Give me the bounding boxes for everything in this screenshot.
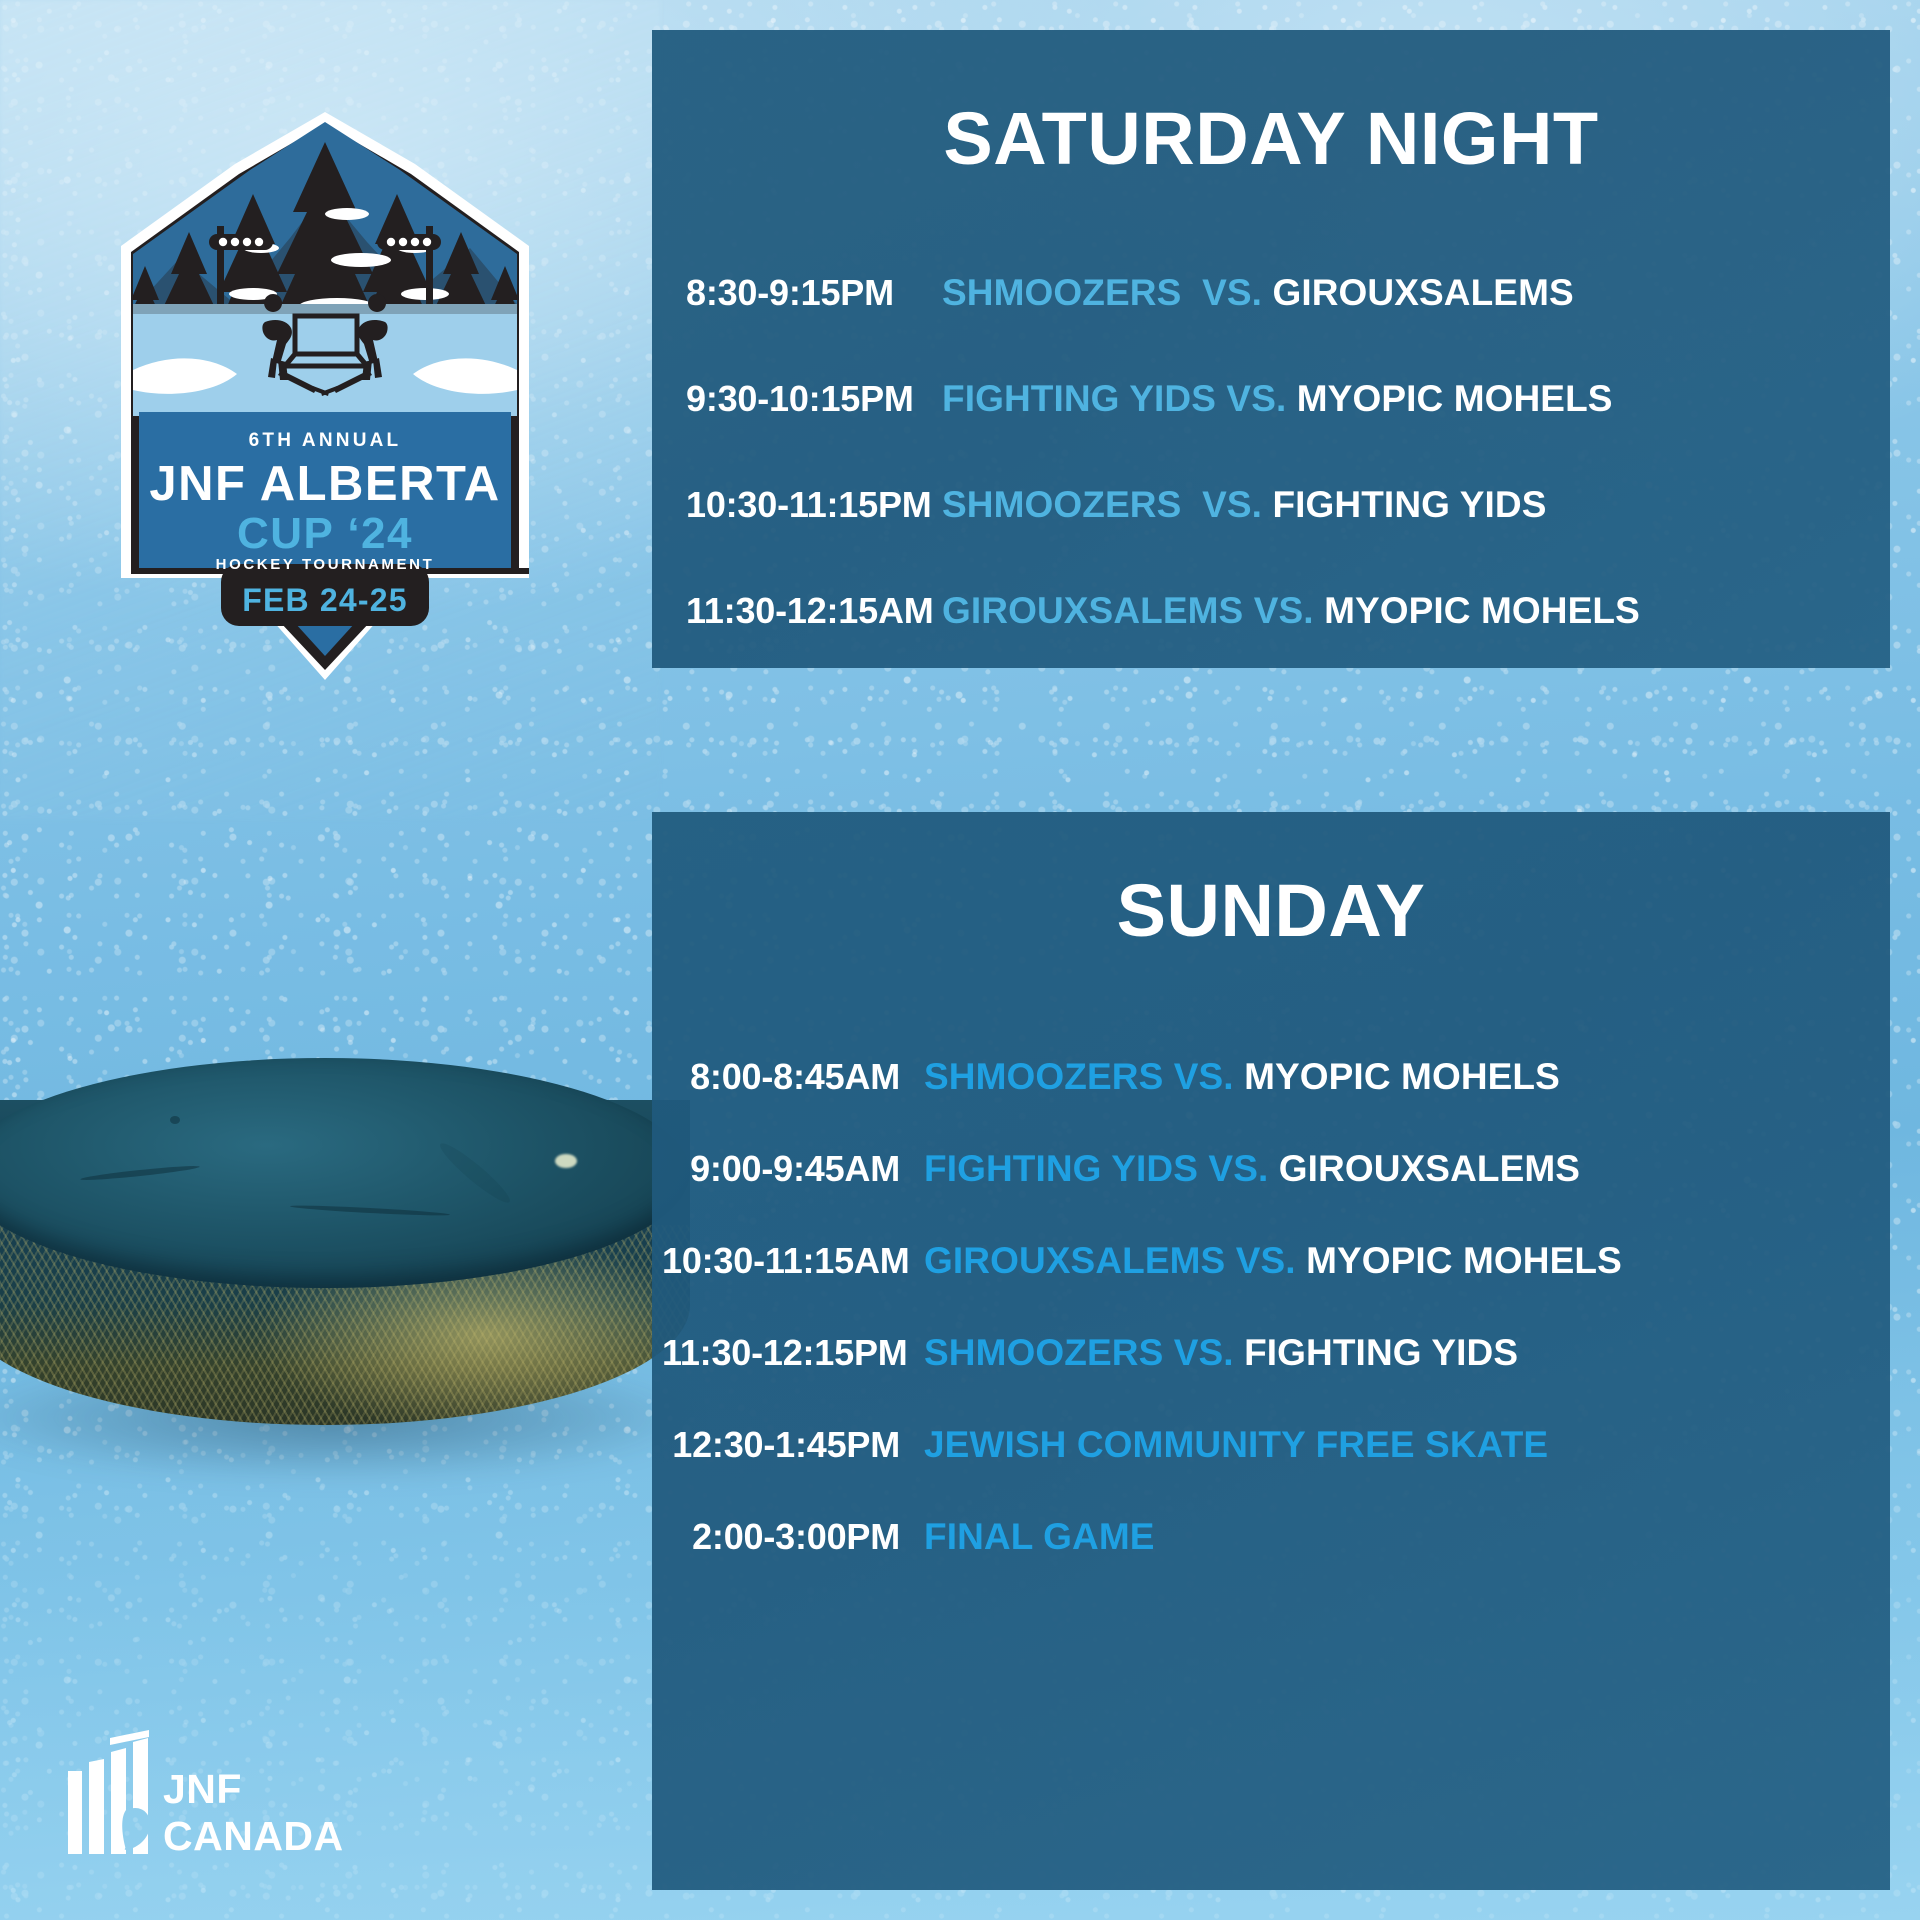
schedule-rows-sunday: 8:00-8:45AM SHMOOZERS VS. MYOPIC MOHELS … bbox=[652, 1056, 1890, 1558]
event-label: JEWISH COMMUNITY FREE SKATE bbox=[924, 1424, 1548, 1465]
team-a: SHMOOZERS bbox=[924, 1056, 1163, 1097]
team-b: FIGHTING YIDS bbox=[1272, 484, 1546, 525]
row-time: 10:30-11:15PM bbox=[686, 484, 942, 526]
schedule-rows-saturday: 8:30-9:15PM SHMOOZERS VS. GIROUXSALEMS 9… bbox=[652, 272, 1890, 632]
row-match: FIGHTING YIDS VS. GIROUXSALEMS bbox=[924, 1148, 1580, 1190]
row-time: 10:30-11:15AM bbox=[662, 1240, 924, 1282]
badge-subtitle: CUP ‘24 bbox=[237, 509, 413, 558]
tournament-badge: 6TH ANNUAL JNF ALBERTA CUP ‘24 HOCKEY TO… bbox=[85, 108, 565, 688]
table-row: 10:30-11:15AM GIROUXSALEMS VS. MYOPIC MO… bbox=[662, 1240, 1856, 1282]
row-match: SHMOOZERS VS. FIGHTING YIDS bbox=[942, 484, 1546, 526]
vs-label: VS. bbox=[1226, 378, 1286, 419]
team-a: SHMOOZERS bbox=[942, 272, 1181, 313]
row-time: 11:30-12:15AM bbox=[686, 590, 942, 632]
vs-label: VS. bbox=[1208, 1148, 1268, 1189]
row-match: SHMOOZERS VS. MYOPIC MOHELS bbox=[924, 1056, 1560, 1098]
vs-label: VS. bbox=[1254, 590, 1314, 631]
row-time: 12:30-1:45PM bbox=[662, 1424, 924, 1466]
team-a: GIROUXSALEMS bbox=[924, 1240, 1225, 1281]
badge-title: JNF ALBERTA bbox=[149, 457, 500, 511]
jnf-logo-line1: JNF bbox=[163, 1766, 242, 1812]
schedule-panel-saturday: SATURDAY NIGHT 8:30-9:15PM SHMOOZERS VS.… bbox=[652, 30, 1890, 668]
team-b: MYOPIC MOHELS bbox=[1297, 378, 1613, 419]
vs-label: VS. bbox=[1174, 1056, 1234, 1097]
row-match: FIGHTING YIDS VS. MYOPIC MOHELS bbox=[942, 378, 1613, 420]
team-b: GIROUXSALEMS bbox=[1272, 272, 1573, 313]
table-row: 9:00-9:45AM FIGHTING YIDS VS. GIROUXSALE… bbox=[662, 1148, 1856, 1190]
panel-title-sunday: SUNDAY bbox=[652, 812, 1890, 948]
badge-tagline: HOCKEY TOURNAMENT bbox=[216, 556, 435, 573]
table-row: 9:30-10:15PM FIGHTING YIDS VS. MYOPIC MO… bbox=[686, 378, 1856, 420]
puck-scuff bbox=[170, 1116, 180, 1124]
hockey-puck bbox=[0, 1058, 730, 1538]
row-match: GIROUXSALEMS VS. MYOPIC MOHELS bbox=[924, 1240, 1622, 1282]
vs-label: VS. bbox=[1174, 1332, 1234, 1373]
puck-highlight bbox=[555, 1154, 577, 1168]
puck-scuff bbox=[290, 1204, 450, 1217]
jnf-logo-line2: CANADA bbox=[163, 1813, 344, 1859]
puck-scuff bbox=[435, 1138, 514, 1208]
row-time: 9:00-9:45AM bbox=[662, 1148, 924, 1190]
row-match: FINAL GAME bbox=[924, 1516, 1155, 1558]
row-time: 8:00-8:45AM bbox=[662, 1056, 924, 1098]
row-time: 8:30-9:15PM bbox=[686, 272, 942, 314]
row-time: 11:30-12:15PM bbox=[662, 1332, 924, 1374]
puck-scuff bbox=[80, 1164, 200, 1183]
table-row: 12:30-1:45PM JEWISH COMMUNITY FREE SKATE bbox=[662, 1424, 1856, 1466]
badge-dates: FEB 24-25 bbox=[242, 582, 408, 618]
vs-label: VS. bbox=[1202, 484, 1262, 525]
row-time: 9:30-10:15PM bbox=[686, 378, 942, 420]
row-match: GIROUXSALEMS VS. MYOPIC MOHELS bbox=[942, 590, 1640, 632]
team-a: FIGHTING YIDS bbox=[942, 378, 1216, 419]
table-row: 11:30-12:15AM GIROUXSALEMS VS. MYOPIC MO… bbox=[686, 590, 1856, 632]
table-row: 11:30-12:15PM SHMOOZERS VS. FIGHTING YID… bbox=[662, 1332, 1856, 1374]
table-row: 8:30-9:15PM SHMOOZERS VS. GIROUXSALEMS bbox=[686, 272, 1856, 314]
team-b: MYOPIC MOHELS bbox=[1306, 1240, 1622, 1281]
team-b: MYOPIC MOHELS bbox=[1244, 1056, 1560, 1097]
vs-label: VS. bbox=[1236, 1240, 1296, 1281]
schedule-panel-sunday: SUNDAY 8:00-8:45AM SHMOOZERS VS. MYOPIC … bbox=[652, 812, 1890, 1890]
team-a: GIROUXSALEMS bbox=[942, 590, 1243, 631]
row-match: SHMOOZERS VS. FIGHTING YIDS bbox=[924, 1332, 1518, 1374]
jnf-canada-logo: JNF CANADA bbox=[60, 1726, 390, 1876]
team-b: FIGHTING YIDS bbox=[1244, 1332, 1518, 1373]
team-b: GIROUXSALEMS bbox=[1279, 1148, 1580, 1189]
team-a: FIGHTING YIDS bbox=[924, 1148, 1198, 1189]
team-a: SHMOOZERS bbox=[924, 1332, 1163, 1373]
badge-eyebrow: 6TH ANNUAL bbox=[249, 430, 402, 451]
row-time: 2:00-3:00PM bbox=[662, 1516, 924, 1558]
row-match: SHMOOZERS VS. GIROUXSALEMS bbox=[942, 272, 1574, 314]
table-row: 8:00-8:45AM SHMOOZERS VS. MYOPIC MOHELS bbox=[662, 1056, 1856, 1098]
vs-label: VS. bbox=[1202, 272, 1262, 313]
panel-title-saturday: SATURDAY NIGHT bbox=[652, 30, 1890, 176]
event-label: FINAL GAME bbox=[924, 1516, 1155, 1557]
jnf-canada-bars-leaf-icon bbox=[68, 1730, 149, 1854]
table-row: 2:00-3:00PM FINAL GAME bbox=[662, 1516, 1856, 1558]
team-b: MYOPIC MOHELS bbox=[1324, 590, 1640, 631]
team-a: SHMOOZERS bbox=[942, 484, 1181, 525]
row-match: JEWISH COMMUNITY FREE SKATE bbox=[924, 1424, 1548, 1466]
table-row: 10:30-11:15PM SHMOOZERS VS. FIGHTING YID… bbox=[686, 484, 1856, 526]
